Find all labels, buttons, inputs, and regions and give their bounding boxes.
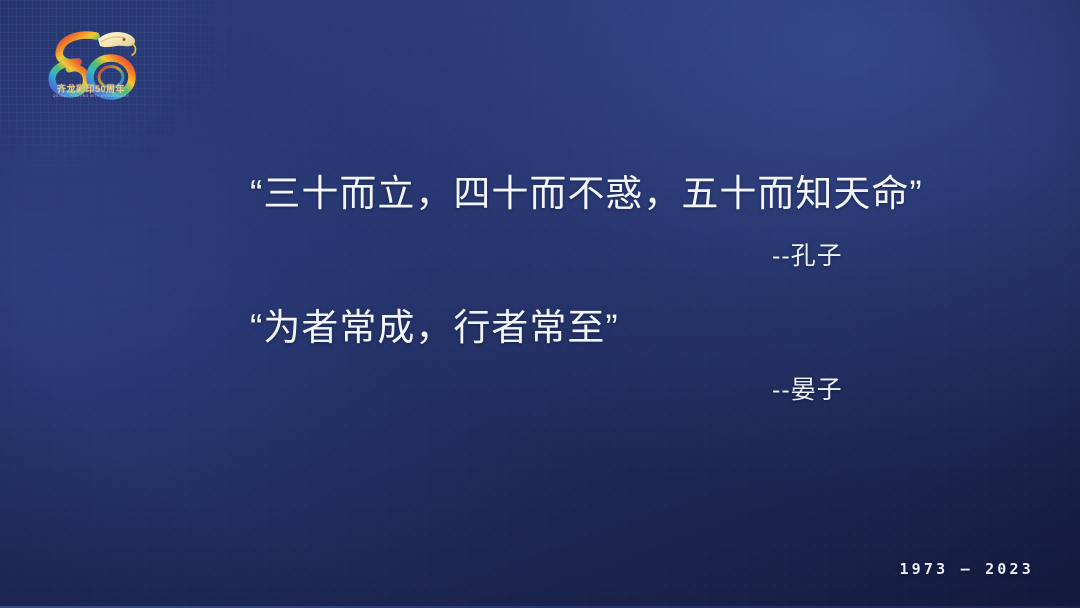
logo-english-text: QILONG PRINTING 50TH ANNIVERSARY [38,94,144,98]
logo-dragon-whisker [132,44,136,55]
quote-attribution-yanzi: --晏子 [772,370,843,406]
logo-dragon-head [98,32,135,47]
anniversary-years: 1973 — 2023 [899,560,1034,578]
quote-attribution-confucius: --孔子 [772,236,843,272]
logo-dragon-eye [123,38,126,41]
anniversary-logo: 齐龙彩印50周年 QILONG PRINTING 50TH ANNIVERSAR… [38,22,144,104]
logo-dragon-body [59,35,96,63]
quote-text-yanzi: “为者常成，行者常至” [250,297,619,351]
presentation-slide: 齐龙彩印50周年 QILONG PRINTING 50TH ANNIVERSAR… [0,0,1080,608]
quote-text-confucius: “三十而立，四十而不惑，五十而知天命” [250,163,923,217]
